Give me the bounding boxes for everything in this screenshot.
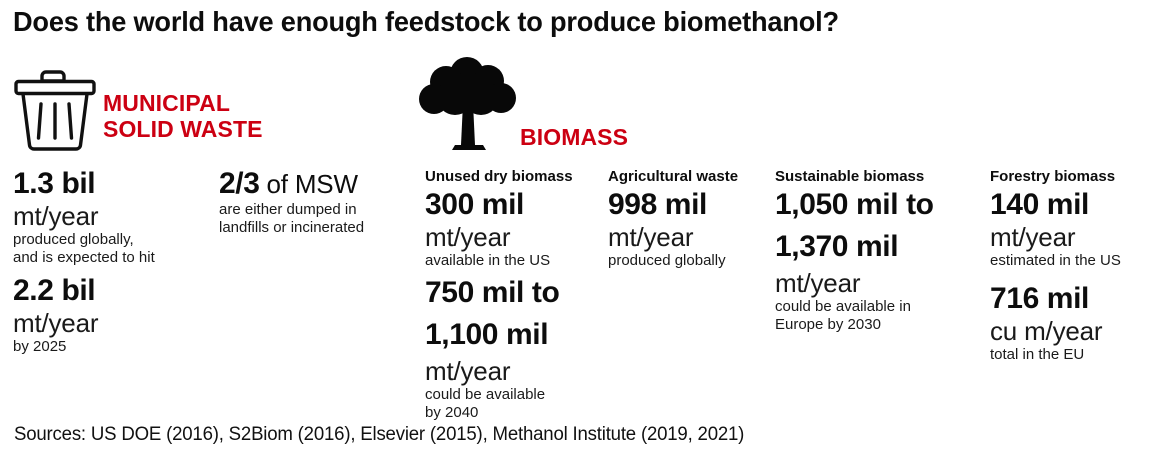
fraction-value: 2/3: [219, 167, 260, 200]
stat-note: could be available in Europe by 2030: [775, 298, 934, 334]
stat-value-range-low: 750 mil to: [425, 276, 573, 310]
stat-note: estimated in the US: [990, 252, 1121, 270]
stat-value: 1.3 bil: [13, 167, 155, 201]
stat-note: by 2025: [13, 338, 98, 356]
column-header: Agricultural waste: [608, 168, 738, 186]
stat-note: produced globally, and is expected to hi…: [13, 231, 155, 267]
msw-stat-by-2025: 2.2 bil mt/year by 2025: [13, 274, 98, 356]
biomass-column-agricultural-waste: Agricultural waste 998 mil mt/year produ…: [608, 168, 738, 270]
fraction-note: are either dumped in landfills or incine…: [219, 201, 364, 237]
stat-unit: mt/year: [13, 201, 155, 231]
stat-unit-2: cu m/year: [990, 316, 1121, 346]
stat-unit: mt/year: [990, 222, 1121, 252]
stat-unit-2: mt/year: [425, 356, 573, 386]
stat-unit: mt/year: [775, 268, 934, 298]
stat-value: 998 mil: [608, 188, 738, 222]
stat-note-2: total in the EU: [990, 346, 1121, 364]
column-header: Forestry biomass: [990, 168, 1121, 186]
fraction-line: 2/3 of MSW: [219, 167, 364, 201]
page-title: Does the world have enough feedstock to …: [13, 6, 839, 38]
stat-unit: mt/year: [425, 222, 573, 252]
msw-stat-produced-globally: 1.3 bil mt/year produced globally, and i…: [13, 167, 155, 267]
stat-note: available in the US: [425, 252, 573, 270]
sources-line: Sources: US DOE (2016), S2Biom (2016), E…: [14, 424, 744, 446]
stat-value: 300 mil: [425, 188, 573, 222]
stat-value: 140 mil: [990, 188, 1121, 222]
stat-value-2: 716 mil: [990, 282, 1121, 316]
biomass-heading: BIOMASS: [520, 124, 628, 150]
column-header: Unused dry biomass: [425, 168, 573, 186]
biomass-column-forestry-biomass: Forestry biomass 140 mil mt/year estimat…: [990, 168, 1121, 364]
stat-value-range-low: 1,050 mil to: [775, 188, 934, 222]
stat-value-range-high: 1,100 mil: [425, 318, 573, 352]
tree-icon: [415, 57, 523, 153]
biomass-column-unused-dry-biomass: Unused dry biomass 300 mil mt/year avail…: [425, 168, 573, 422]
infographic-canvas: Does the world have enough feedstock to …: [0, 0, 1166, 462]
stat-value: 2.2 bil: [13, 274, 98, 308]
stat-unit: mt/year: [13, 308, 98, 338]
stat-note-2: could be available by 2040: [425, 386, 573, 422]
stat-value-range-high: 1,370 mil: [775, 230, 934, 264]
stat-note: produced globally: [608, 252, 738, 270]
municipal-solid-waste-heading: MUNICIPAL SOLID WASTE: [103, 90, 263, 142]
msw-stat-fraction: 2/3 of MSW are either dumped in landfill…: [219, 167, 364, 237]
fraction-suffix: of MSW: [260, 169, 358, 199]
biomass-column-sustainable-biomass: Sustainable biomass 1,050 mil to 1,370 m…: [775, 168, 934, 334]
column-header: Sustainable biomass: [775, 168, 934, 186]
trash-can-icon: [10, 62, 102, 152]
stat-unit: mt/year: [608, 222, 738, 252]
